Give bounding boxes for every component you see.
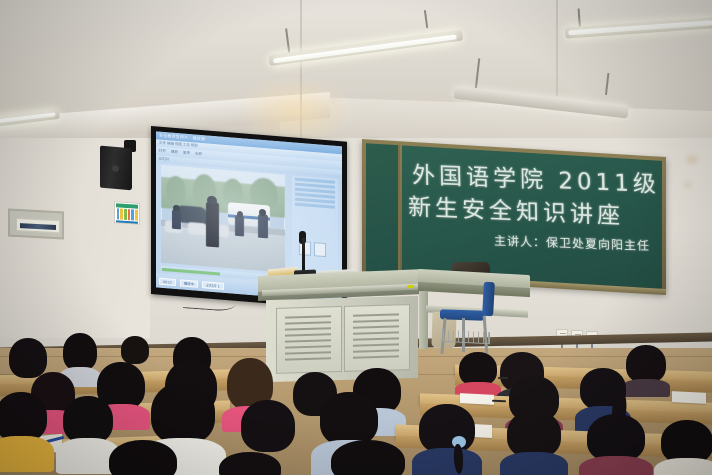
- panel-window: [16, 218, 60, 233]
- lamp-tube: [273, 34, 457, 63]
- wall-mark-3: [686, 155, 698, 164]
- toolbar-pause[interactable]: 暂停: [183, 151, 190, 157]
- desk-paper-2: [672, 391, 706, 404]
- student-r2-8: [586, 414, 646, 475]
- speaker-cone: [112, 165, 119, 173]
- student-r2-6: [418, 404, 476, 475]
- microphone-stem: [302, 238, 305, 272]
- toolbar-play[interactable]: 播放: [171, 150, 178, 156]
- side-desk-leg: [419, 291, 428, 349]
- toolbar-fullscreen[interactable]: 全屏: [195, 152, 202, 158]
- classroom-photo: 安全教育宣传片 - 播放器 文件 编辑 视图 工具 帮助 打开 播放 暂停 全屏…: [0, 0, 712, 475]
- toolbar-open[interactable]: 打开: [159, 149, 166, 155]
- photo-scooter: [188, 222, 205, 235]
- lamp-rod: [285, 28, 290, 52]
- blackboard-side-panel: [366, 143, 400, 273]
- student-far-6: [625, 345, 667, 390]
- photo-officer: [235, 215, 244, 236]
- projected-photo: [161, 165, 285, 273]
- panel-strip: [20, 223, 56, 230]
- slide-cell: 幻灯片 1: [202, 281, 223, 290]
- blackboard-line-3: 主讲人：保卫处夏向阳主任: [494, 232, 650, 254]
- status-led: [407, 285, 414, 288]
- safety-notice-poster: [114, 201, 140, 225]
- electrical-panel: [8, 209, 64, 240]
- lamp-rod: [578, 9, 581, 27]
- glasses-icon: [498, 377, 508, 379]
- student-r2-7: [506, 410, 562, 475]
- student-near-2: [330, 440, 406, 475]
- notice-grid: [116, 208, 138, 221]
- wall-mark-4: [684, 182, 692, 188]
- cabinet-door-left[interactable]: [276, 306, 342, 374]
- panel-row: [295, 203, 335, 209]
- wall-speaker: [100, 146, 132, 191]
- player-side-panel[interactable]: [292, 175, 338, 280]
- time-cell: 00:12: [159, 277, 176, 285]
- lamp-rod: [424, 10, 428, 28]
- lamp-rod: [475, 58, 480, 88]
- state-cell: 播放中: [180, 279, 199, 287]
- chair-basket: [442, 330, 490, 345]
- slide-thumbnail[interactable]: [314, 242, 326, 257]
- student-far-5: [458, 352, 498, 392]
- student-near-3: [218, 452, 282, 475]
- projector-cable: [183, 290, 235, 312]
- cabinet-door-right[interactable]: [344, 304, 410, 372]
- photo-person-center: [206, 202, 220, 248]
- lamp-rod: [605, 73, 609, 95]
- photo-officer: [172, 209, 181, 229]
- chair-backrest[interactable]: [482, 282, 495, 317]
- student-r2-2: [62, 396, 114, 466]
- student-near-1: [108, 440, 178, 475]
- photo-officer-head: [237, 211, 243, 217]
- photo-officer: [258, 214, 268, 238]
- pen: [492, 400, 506, 402]
- photo-officer-head: [173, 205, 179, 211]
- blackboard-main-panel: 外国语学院 2011级 新生安全知识讲座 主讲人：保卫处夏向阳主任: [402, 145, 662, 288]
- student-r2-9: [660, 420, 712, 475]
- student-r2-1: [0, 392, 48, 462]
- photo-tree: [166, 175, 186, 206]
